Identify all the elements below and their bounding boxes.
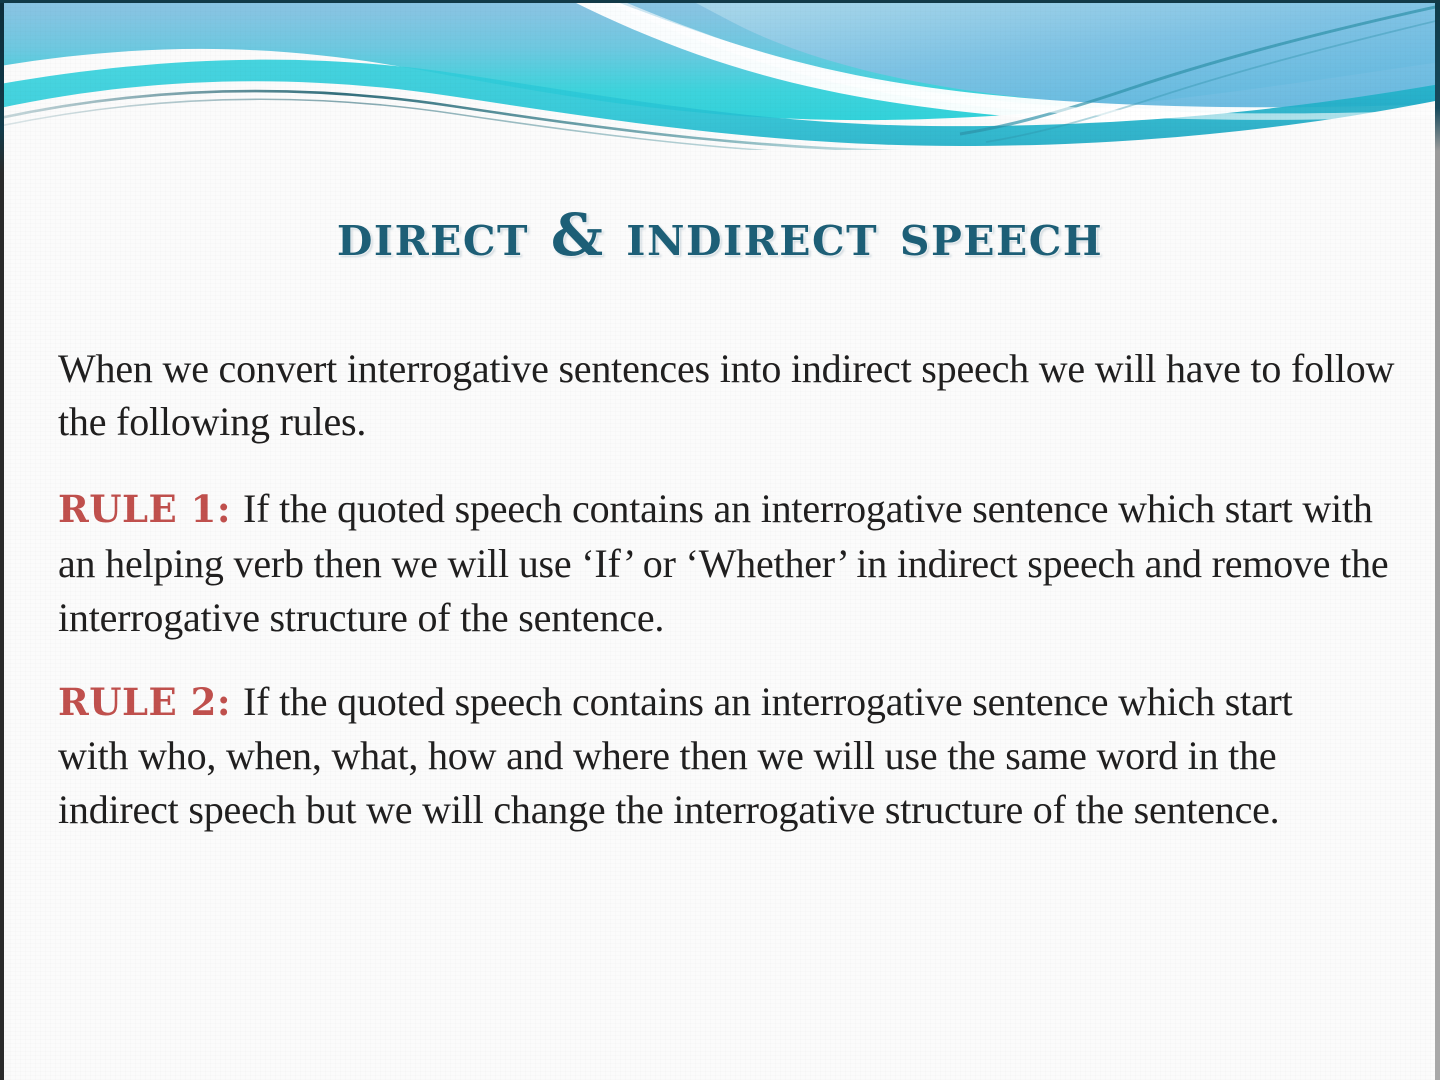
rule-1-label: RULE 1: [58, 487, 243, 531]
rule-2-label: RULE 2: [58, 680, 243, 724]
page-title: Direct & Indirect Speech [337, 205, 1103, 266]
wave-header-graphic [0, 0, 1440, 150]
rule-1-text: If the quoted speech contains an interro… [58, 486, 1388, 639]
rule-item-1: RULE 1:If the quoted speech contains an … [58, 482, 1398, 645]
intro-paragraph: When we convert interrogative sentences … [58, 342, 1398, 448]
wave-header-svg [0, 0, 1440, 150]
title-container: Direct & Indirect Speech [0, 166, 1440, 305]
slide-canvas: Direct & Indirect Speech When we convert… [0, 0, 1440, 1080]
slide-body: When we convert interrogative sentences … [58, 342, 1393, 868]
top-border-strip [0, 0, 1440, 3]
rule-2-text: If the quoted speech contains an interro… [58, 679, 1293, 832]
right-border-strip [1435, 0, 1440, 1080]
rule-item-2: RULE 2:If the quoted speech contains an … [58, 675, 1318, 838]
left-border-strip [0, 0, 4, 1080]
